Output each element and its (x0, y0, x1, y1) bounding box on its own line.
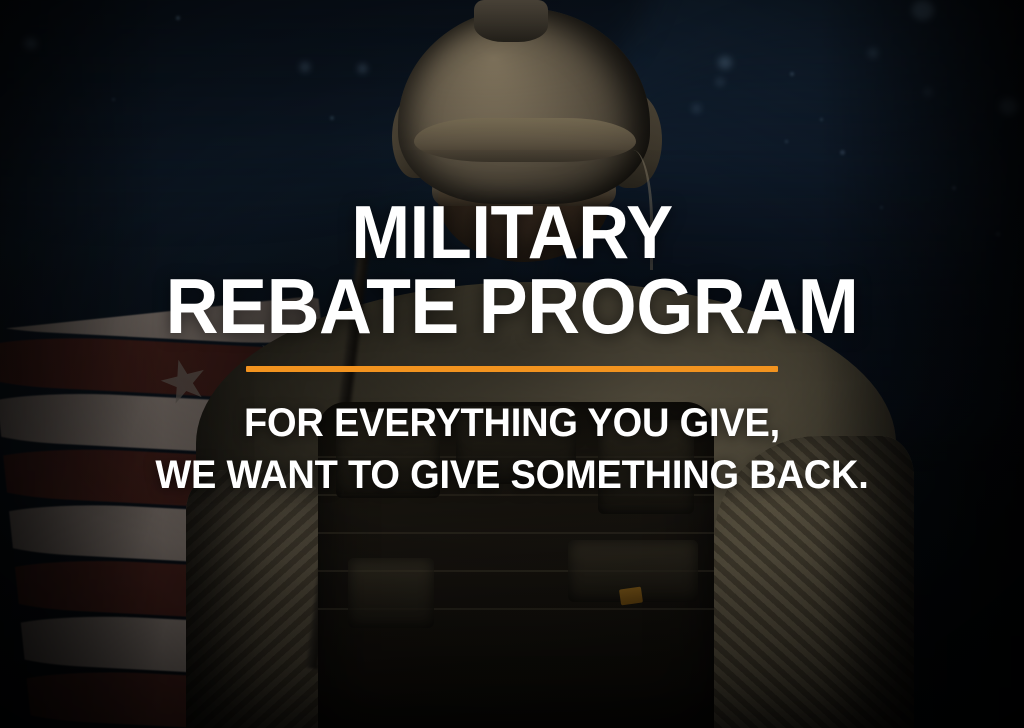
banner-content: MILITARY REBATE PROGRAM FOR EVERYTHING Y… (0, 196, 1024, 501)
subtitle-line-1: FOR EVERYTHING YOU GIVE, (244, 401, 780, 445)
headline-line-2: REBATE PROGRAM (31, 269, 994, 345)
accent-divider (246, 366, 778, 372)
page-title: MILITARY REBATE PROGRAM (31, 196, 994, 344)
divider-wrap (0, 366, 1024, 372)
military-rebate-banner: MILITARY REBATE PROGRAM FOR EVERYTHING Y… (0, 0, 1024, 728)
subtitle: FOR EVERYTHING YOU GIVE, WE WANT TO GIVE… (26, 398, 999, 500)
subtitle-line-2: WE WANT TO GIVE SOMETHING BACK. (26, 450, 999, 501)
